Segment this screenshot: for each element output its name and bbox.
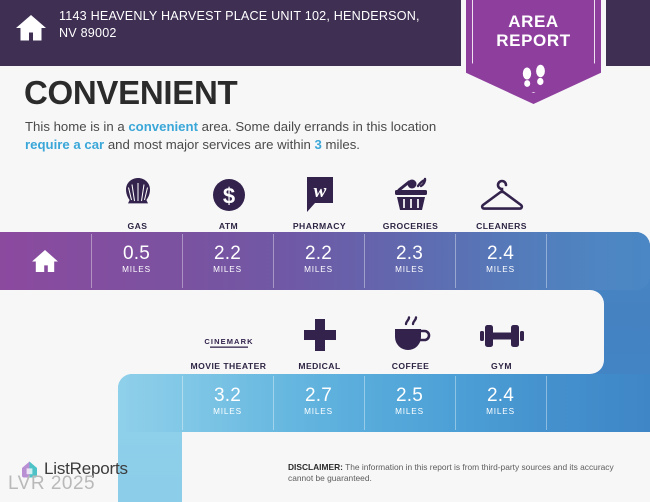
intro-text-2: area. Some daily errands in this locatio… bbox=[198, 119, 436, 134]
distance-bar-row-2 bbox=[118, 374, 650, 432]
badge-right-gap bbox=[601, 0, 606, 66]
amenity-atm: $ ATM bbox=[183, 172, 274, 231]
amenity-label: CLEANERS bbox=[476, 221, 527, 231]
home-icon bbox=[14, 11, 48, 45]
intro-highlight-1: convenient bbox=[128, 119, 198, 134]
icon-slot bbox=[478, 172, 526, 214]
segment-divider bbox=[182, 234, 183, 288]
segment-divider bbox=[91, 234, 92, 288]
badge-text: AREA REPORT bbox=[466, 12, 601, 50]
intro-highlight-3: 3 bbox=[315, 137, 322, 152]
footprints-icon bbox=[517, 64, 551, 90]
svg-text:$: $ bbox=[222, 184, 234, 209]
segment-divider bbox=[273, 234, 274, 288]
amenity-groceries: GROCERIES bbox=[365, 172, 456, 231]
amenity-gas: GAS bbox=[92, 172, 183, 231]
watermark: LVR 2025 bbox=[8, 473, 95, 495]
intro-text-4: miles. bbox=[322, 137, 360, 152]
shell-gas-icon bbox=[118, 174, 158, 214]
badge-line2: REPORT bbox=[466, 31, 601, 50]
badge-line1: AREA bbox=[466, 12, 601, 31]
amenity-label: GROCERIES bbox=[383, 221, 439, 231]
property-address: 1143 HEAVENLY HARVEST PLACE UNIT 102, HE… bbox=[59, 8, 439, 41]
dollar-circle-icon: $ bbox=[210, 176, 248, 214]
home-icon bbox=[31, 247, 59, 275]
segment-divider bbox=[546, 376, 547, 430]
amenity-pharmacy: w PHARMACY bbox=[274, 172, 365, 231]
segment-divider bbox=[455, 376, 456, 430]
intro-text-3: and most major services are within bbox=[104, 137, 314, 152]
area-report-page: 1143 HEAVENLY HARVEST PLACE UNIT 102, HE… bbox=[0, 0, 650, 502]
intro-text-1: This home is in a bbox=[25, 119, 128, 134]
icon-slot: $ bbox=[210, 172, 248, 214]
icon-slot bbox=[118, 172, 158, 214]
walgreens-w-icon: w bbox=[301, 174, 339, 214]
ribbon-notch-left bbox=[182, 432, 246, 502]
segment-divider bbox=[546, 234, 547, 288]
hanger-icon bbox=[478, 176, 526, 214]
svg-text:w: w bbox=[313, 181, 326, 202]
amenity-label: ATM bbox=[219, 221, 238, 231]
segment-divider bbox=[364, 234, 365, 288]
disclaimer-label: DISCLAIMER: bbox=[288, 462, 343, 472]
amenity-icon-row-1: GAS $ ATM w PHARMACY bbox=[92, 172, 547, 231]
ribbon-notch-fill bbox=[540, 290, 558, 374]
intro-paragraph: This home is in a convenient area. Some … bbox=[25, 118, 445, 154]
amenity-label: PHARMACY bbox=[293, 221, 346, 231]
distance-bar-row-1 bbox=[0, 232, 650, 290]
segment-divider bbox=[455, 234, 456, 288]
header-address-block: 1143 HEAVENLY HARVEST PLACE UNIT 102, HE… bbox=[14, 8, 439, 45]
amenity-label: GAS bbox=[128, 221, 148, 231]
segment-divider bbox=[364, 376, 365, 430]
basket-icon bbox=[390, 174, 432, 214]
icon-slot bbox=[390, 172, 432, 214]
segment-divider bbox=[273, 376, 274, 430]
amenity-cleaners: CLEANERS bbox=[456, 172, 547, 231]
segment-divider bbox=[182, 376, 183, 430]
icon-slot: w bbox=[301, 172, 339, 214]
intro-highlight-2: require a car bbox=[25, 137, 104, 152]
page-title: CONVENIENT bbox=[24, 74, 237, 112]
area-report-badge: AREA REPORT bbox=[466, 0, 601, 110]
disclaimer: DISCLAIMER: The information in this repo… bbox=[288, 462, 636, 484]
